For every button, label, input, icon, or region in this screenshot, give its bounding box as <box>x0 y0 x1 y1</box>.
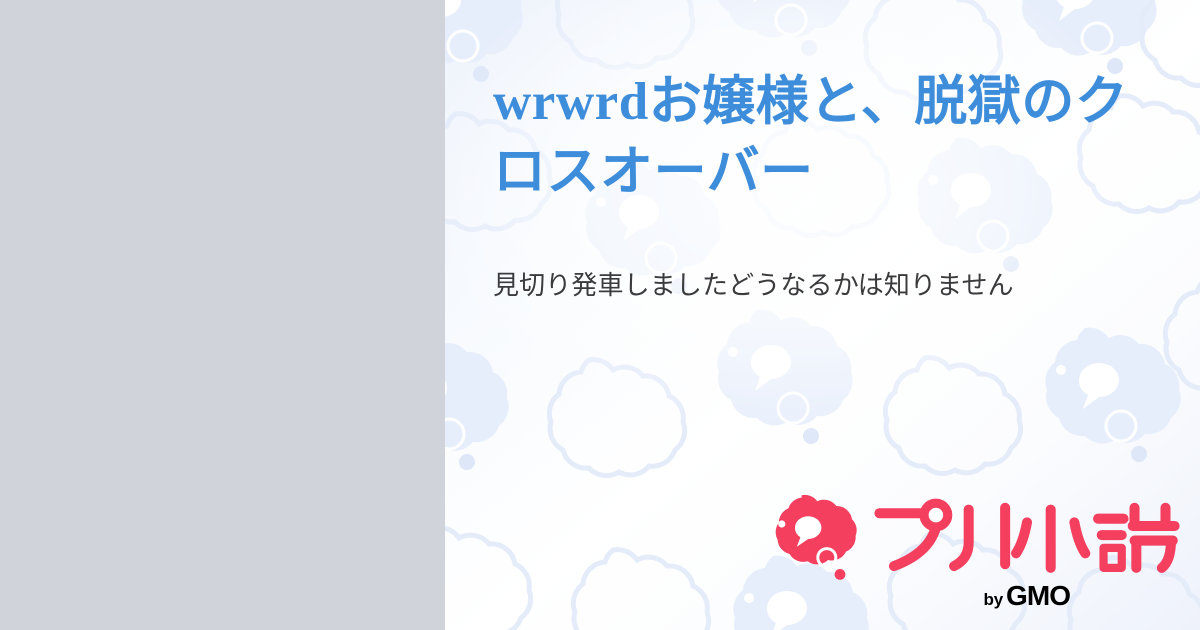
novel-title: wrwrdお嬢様と、脱獄のクロスオーバー <box>493 68 1160 208</box>
puri-shousetsu-wordmark <box>872 495 1182 577</box>
novel-subtitle: 見切り発車しましたどうなるかは知りません <box>493 208 1160 305</box>
text-block: wrwrdお嬢様と、脱獄のクロスオーバー 見切り発車しましたどうなるかは知りませ… <box>493 68 1160 305</box>
brand-byline: by GMO <box>984 580 1070 612</box>
brand-logo: by GMO <box>762 490 1182 612</box>
brand-lockup <box>762 490 1182 582</box>
og-share-card: wrwrdお嬢様と、脱獄のクロスオーバー 見切り発車しましたどうなるかは知りませ… <box>0 0 1200 630</box>
content-panel: wrwrdお嬢様と、脱獄のクロスオーバー 見切り発車しましたどうなるかは知りませ… <box>445 0 1200 630</box>
cover-image-placeholder <box>0 0 445 630</box>
byline-prefix: by <box>984 590 1004 610</box>
puri-shousetsu-cloud-mark <box>762 490 858 582</box>
byline-company: GMO <box>1006 580 1070 612</box>
